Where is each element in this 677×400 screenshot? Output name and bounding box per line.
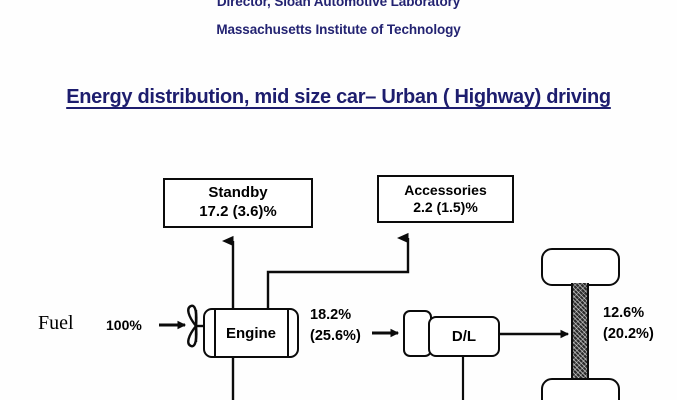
slide-canvas: Director, Sloan Automotive Laboratory Ma… bbox=[0, 0, 677, 400]
affiliation-line-1: Director, Sloan Automotive Laboratory bbox=[0, 0, 677, 9]
node-driveline-label: D/L bbox=[452, 328, 476, 345]
label-fuel-input-percent: 100% bbox=[106, 317, 142, 333]
label-engine-output-highway: (25.6%) bbox=[310, 326, 361, 347]
node-accessories-title: Accessories bbox=[404, 182, 487, 200]
label-engine-output-urban: 18.2% bbox=[310, 305, 361, 326]
label-wheel-output-urban: 12.6% bbox=[603, 303, 654, 324]
label-engine-output: 18.2% (25.6%) bbox=[310, 305, 361, 347]
axle bbox=[571, 283, 589, 381]
label-wheel-output: 12.6% (20.2%) bbox=[603, 303, 654, 345]
node-accessories[interactable]: Accessories 2.2 (1.5)% bbox=[377, 175, 514, 223]
node-engine-label: Engine bbox=[203, 308, 299, 358]
node-engine[interactable]: Engine bbox=[203, 308, 299, 358]
wheel-top bbox=[541, 248, 620, 286]
slide-title: Energy distribution, mid size car– Urban… bbox=[0, 86, 677, 109]
wheel-bottom bbox=[541, 378, 620, 400]
arrow-engine-to-accessories bbox=[268, 238, 408, 308]
fan-icon bbox=[188, 306, 203, 346]
label-wheel-output-highway: (20.2%) bbox=[603, 324, 654, 345]
node-standby-value: 17.2 (3.6)% bbox=[199, 203, 277, 222]
node-accessories-value: 2.2 (1.5)% bbox=[413, 199, 478, 217]
affiliation-line-2: Massachusetts Institute of Technology bbox=[0, 22, 677, 37]
node-driveline[interactable]: D/L bbox=[428, 316, 500, 357]
label-fuel: Fuel bbox=[38, 312, 74, 335]
node-standby[interactable]: Standby 17.2 (3.6)% bbox=[163, 178, 313, 228]
node-standby-title: Standby bbox=[208, 184, 267, 203]
